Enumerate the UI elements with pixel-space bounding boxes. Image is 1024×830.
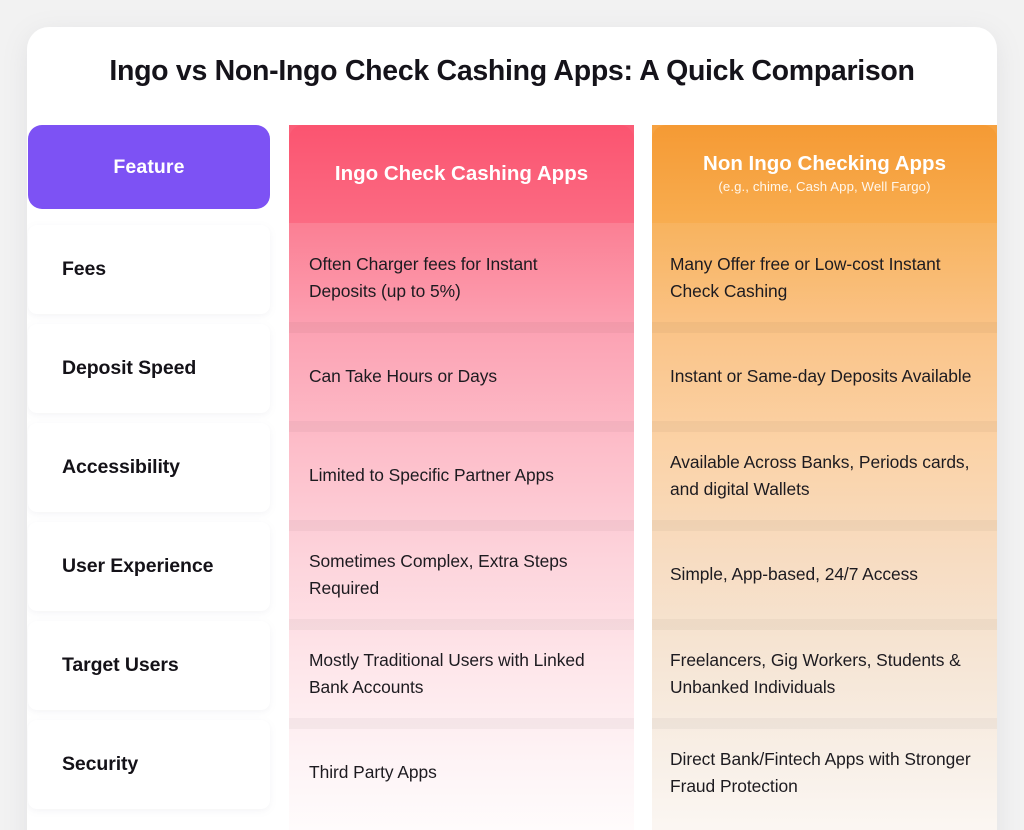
table-row: Deposit Speed Can Take Hours or Days Ins… [27,322,997,421]
row-ingo-value: Third Party Apps [289,729,634,817]
column-header-feature-label: Feature [113,156,184,179]
row-ingo-value: Often Charger fees for Instant Deposits … [289,234,634,322]
table-row: Fees Often Charger fees for Instant Depo… [27,223,997,322]
column-gutter [634,520,652,619]
row-feature-label: User Experience [28,522,270,611]
column-header-feature: Feature [28,125,270,209]
table-row: User Experience Sometimes Complex, Extra… [27,520,997,619]
column-header-ingo: Ingo Check Cashing Apps [289,125,634,223]
table-row: Security Third Party Apps Direct Bank/Fi… [27,718,997,817]
row-noningo-value: Instant or Same-day Deposits Available [652,333,997,421]
column-header-noningo: Non Ingo Checking Apps (e.g., chime, Cas… [652,125,997,223]
column-gutter [270,520,289,619]
row-feature-label: Deposit Speed [28,324,270,413]
column-gutter [270,421,289,520]
column-gutter [634,322,652,421]
column-header-noningo-sublabel: (e.g., chime, Cash App, Well Fargo) [718,179,930,194]
column-gutter [270,223,289,322]
column-gutter [634,718,652,817]
comparison-rows: Fees Often Charger fees for Instant Depo… [27,223,997,817]
column-gutter [270,619,289,718]
column-header-ingo-label: Ingo Check Cashing Apps [335,162,588,186]
row-noningo-value: Available Across Banks, Periods cards, a… [652,432,997,520]
row-ingo-value: Mostly Traditional Users with Linked Ban… [289,630,634,718]
column-gutter [634,421,652,520]
row-feature-label: Target Users [28,621,270,710]
table-row: Accessibility Limited to Specific Partne… [27,421,997,520]
row-noningo-value: Simple, App-based, 24/7 Access [652,531,997,619]
row-feature-label: Fees [28,225,270,314]
column-gutter [634,619,652,718]
column-header-noningo-label: Non Ingo Checking Apps [703,152,946,176]
page-title: Ingo vs Non-Ingo Check Cashing Apps: A Q… [27,55,997,88]
row-noningo-value: Direct Bank/Fintech Apps with Stronger F… [652,729,997,817]
row-noningo-value: Freelancers, Gig Workers, Students & Unb… [652,630,997,718]
table-row: Target Users Mostly Traditional Users wi… [27,619,997,718]
row-ingo-value: Limited to Specific Partner Apps [289,432,634,520]
column-gutter [634,223,652,322]
comparison-infographic: Ingo vs Non-Ingo Check Cashing Apps: A Q… [0,0,1024,830]
column-gutter [270,322,289,421]
row-feature-label: Accessibility [28,423,270,512]
row-feature-label: Security [28,720,270,809]
column-gutter [270,718,289,817]
row-ingo-value: Can Take Hours or Days [289,333,634,421]
row-noningo-value: Many Offer free or Low-cost Instant Chec… [652,234,997,322]
comparison-card: Ingo vs Non-Ingo Check Cashing Apps: A Q… [27,27,997,830]
row-ingo-value: Sometimes Complex, Extra Steps Required [289,531,634,619]
